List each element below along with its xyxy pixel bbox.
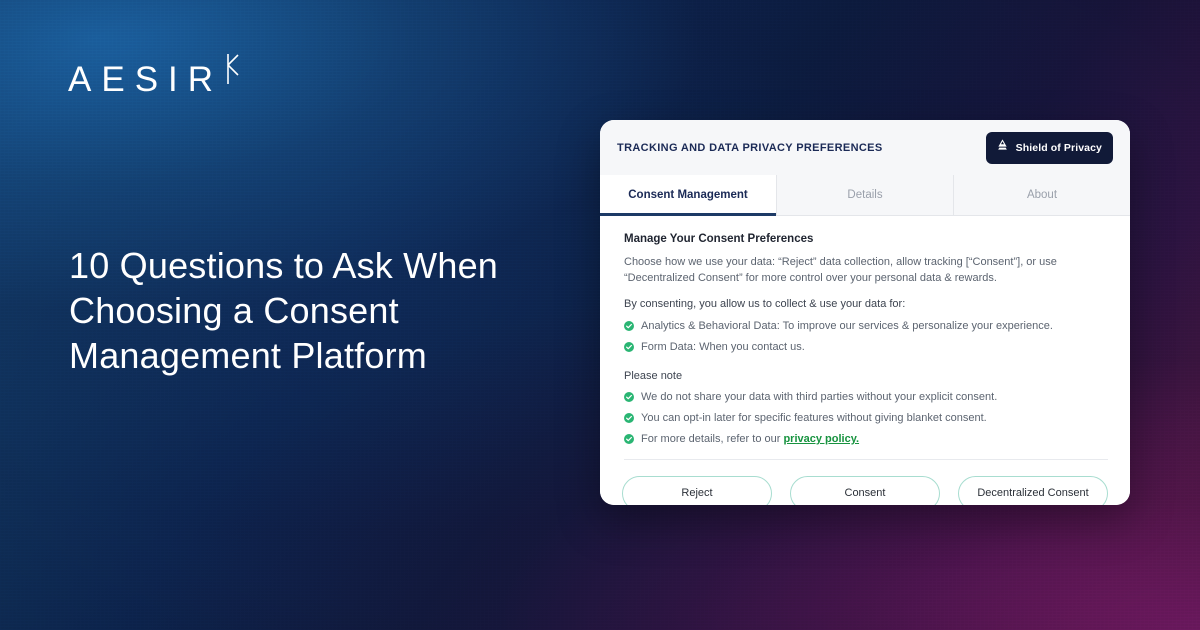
list-item-text: For more details, refer to our privacy p… (641, 431, 859, 447)
dialog-footer: Reject Consent Decentralized Consent (600, 460, 1130, 505)
dialog-body: Manage Your Consent Preferences Choose h… (600, 216, 1130, 460)
note-items-list: We do not share your data with third par… (624, 389, 1108, 449)
headline-line-1: 10 Questions to Ask When (69, 243, 609, 288)
intro-paragraph: Choose how we use your data: “Reject” da… (624, 254, 1108, 286)
shield-of-privacy-badge[interactable]: Shield of Privacy (986, 132, 1113, 164)
tab-consent-management-label: Consent Management (628, 189, 748, 201)
tab-details-label: Details (847, 189, 882, 201)
check-circle-icon (624, 320, 634, 336)
decentralized-consent-button[interactable]: Decentralized Consent (958, 476, 1108, 506)
tab-consent-management[interactable]: Consent Management (600, 175, 777, 215)
consent-button[interactable]: Consent (790, 476, 940, 506)
privacy-policy-link[interactable]: privacy policy. (783, 433, 859, 445)
section-title: Manage Your Consent Preferences (624, 233, 1108, 245)
list-item-label: You can opt-in later for specific featur… (641, 410, 987, 426)
list-item: We do not share your data with third par… (624, 389, 1108, 407)
list-item-label: Form Data: When you contact us. (641, 339, 805, 355)
consent-preferences-dialog: TRACKING AND DATA PRIVACY PREFERENCES Sh… (600, 120, 1130, 505)
reject-button[interactable]: Reject (622, 476, 772, 506)
list-item-label: We do not share your data with third par… (641, 389, 997, 405)
check-circle-icon (624, 391, 634, 407)
page-title: 10 Questions to Ask When Choosing a Cons… (69, 243, 609, 378)
list-item-label: For more details, refer to our (641, 433, 783, 445)
list-item-label: Analytics & Behavioral Data: To improve … (641, 318, 1053, 334)
note-heading: Please note (624, 370, 1108, 382)
list-item: Form Data: When you contact us. (624, 339, 1108, 357)
shield-of-privacy-icon (995, 138, 1010, 158)
headline-line-3: Management Platform (69, 333, 609, 378)
check-circle-icon (624, 433, 634, 449)
tab-details[interactable]: Details (777, 175, 954, 215)
consent-items-list: Analytics & Behavioral Data: To improve … (624, 318, 1108, 357)
dialog-header: TRACKING AND DATA PRIVACY PREFERENCES Sh… (600, 120, 1130, 175)
list-item: Analytics & Behavioral Data: To improve … (624, 318, 1108, 336)
check-circle-icon (624, 341, 634, 357)
logo-wordmark: AESIR (68, 58, 223, 102)
aesir-logo: AESIR (68, 58, 243, 102)
dialog-tabs: Consent Management Details About (600, 175, 1130, 216)
dialog-title: TRACKING AND DATA PRIVACY PREFERENCES (617, 142, 883, 154)
consent-lead-text: By consenting, you allow us to collect &… (624, 298, 1108, 310)
shield-of-privacy-label: Shield of Privacy (1016, 142, 1102, 154)
list-item: You can opt-in later for specific featur… (624, 410, 1108, 428)
headline-line-2: Choosing a Consent (69, 288, 609, 333)
tab-about[interactable]: About (954, 175, 1130, 215)
check-circle-icon (624, 412, 634, 428)
list-item: For more details, refer to our privacy p… (624, 431, 1108, 449)
tab-about-label: About (1027, 189, 1057, 201)
aesir-rune-icon (217, 52, 243, 91)
